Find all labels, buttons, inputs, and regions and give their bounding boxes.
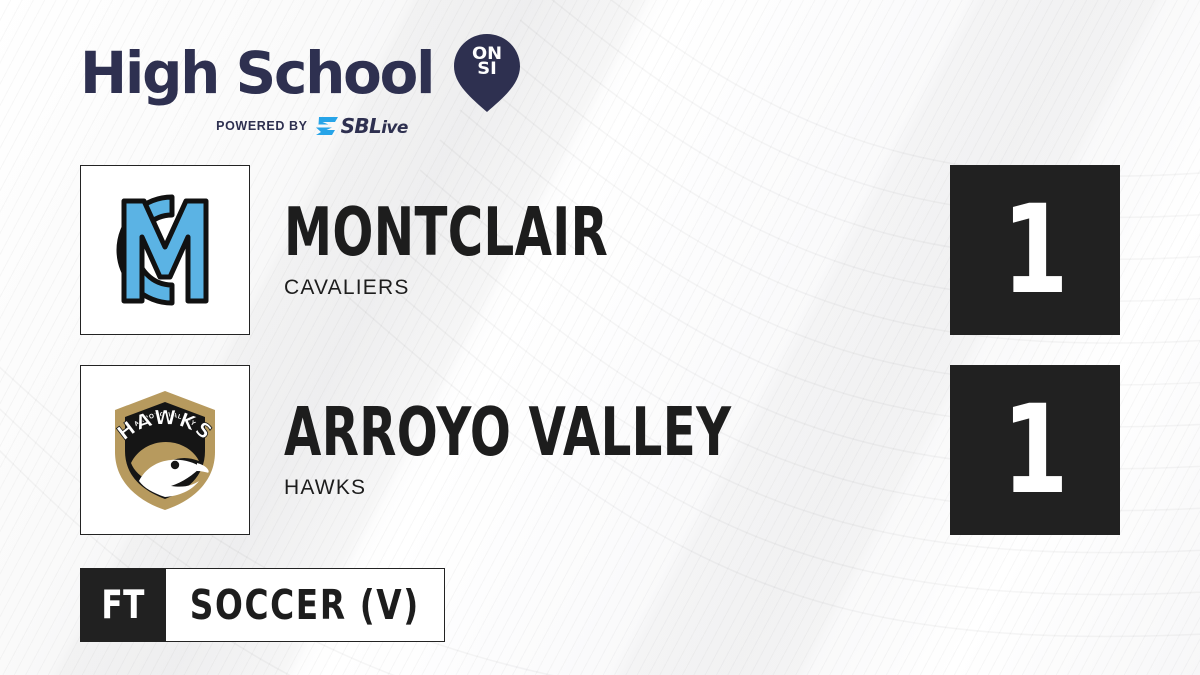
- montclair-cavaliers-logo-tile: [80, 165, 250, 335]
- game-status-bar: FT SOCCER (V): [80, 568, 445, 642]
- status-sport-panel: SOCCER (V): [166, 568, 445, 642]
- montclair-cavaliers-logo: [100, 185, 230, 315]
- sblive-word-secondary: ive: [381, 118, 408, 138]
- sblive-word-primary: SBL: [341, 114, 382, 138]
- team-name: ARROYO VALLEY: [284, 400, 731, 466]
- score-box-away: 1: [950, 365, 1120, 535]
- brand-wordmark: High School: [80, 44, 433, 102]
- status-badge-period: FT: [80, 568, 166, 642]
- powered-by-label: POWERED BY: [216, 119, 307, 133]
- brand-logo-row: High School ON SI: [80, 36, 520, 110]
- team-name: MONTCLAIR: [284, 200, 608, 266]
- on-si-pin-label: ON SI: [454, 47, 520, 77]
- arroyo-valley-hawks-logo: ARROYO VALLEY HAWKS: [109, 389, 221, 511]
- team-mascot: CAVALIERS: [284, 276, 734, 300]
- team-row-away: ARROYO VALLEY HAWKS ARROYO VALLEY HAWKS …: [0, 365, 1200, 535]
- montclair-team-text: MONTCLAIR CAVALIERS: [284, 165, 734, 335]
- score-value: 1: [1002, 389, 1067, 511]
- score-value: 1: [1002, 189, 1067, 311]
- sblive-chevron-icon: [316, 117, 338, 135]
- sblive-wordmark: SBLive: [341, 116, 408, 137]
- powered-by-row: POWERED BY SBLive: [80, 116, 520, 136]
- scoreboard-graphic: High School ON SI POWERED BY SBLive: [0, 0, 1200, 675]
- team-row-home: MONTCLAIR CAVALIERS 1: [0, 165, 1200, 335]
- score-box-home: 1: [950, 165, 1120, 335]
- status-period-label: FT: [101, 583, 144, 628]
- arroyo-valley-team-text: ARROYO VALLEY HAWKS: [284, 365, 905, 535]
- on-si-pin-icon: ON SI: [454, 34, 520, 112]
- team-mascot: HAWKS: [284, 476, 905, 500]
- arroyo-valley-hawks-logo-tile: ARROYO VALLEY HAWKS: [80, 365, 250, 535]
- brand-header: High School ON SI POWERED BY SBLive: [80, 36, 520, 140]
- pin-line-si: SI: [453, 62, 522, 77]
- sblive-logo: SBLive: [316, 116, 408, 137]
- status-sport-label: SOCCER (V): [190, 581, 420, 629]
